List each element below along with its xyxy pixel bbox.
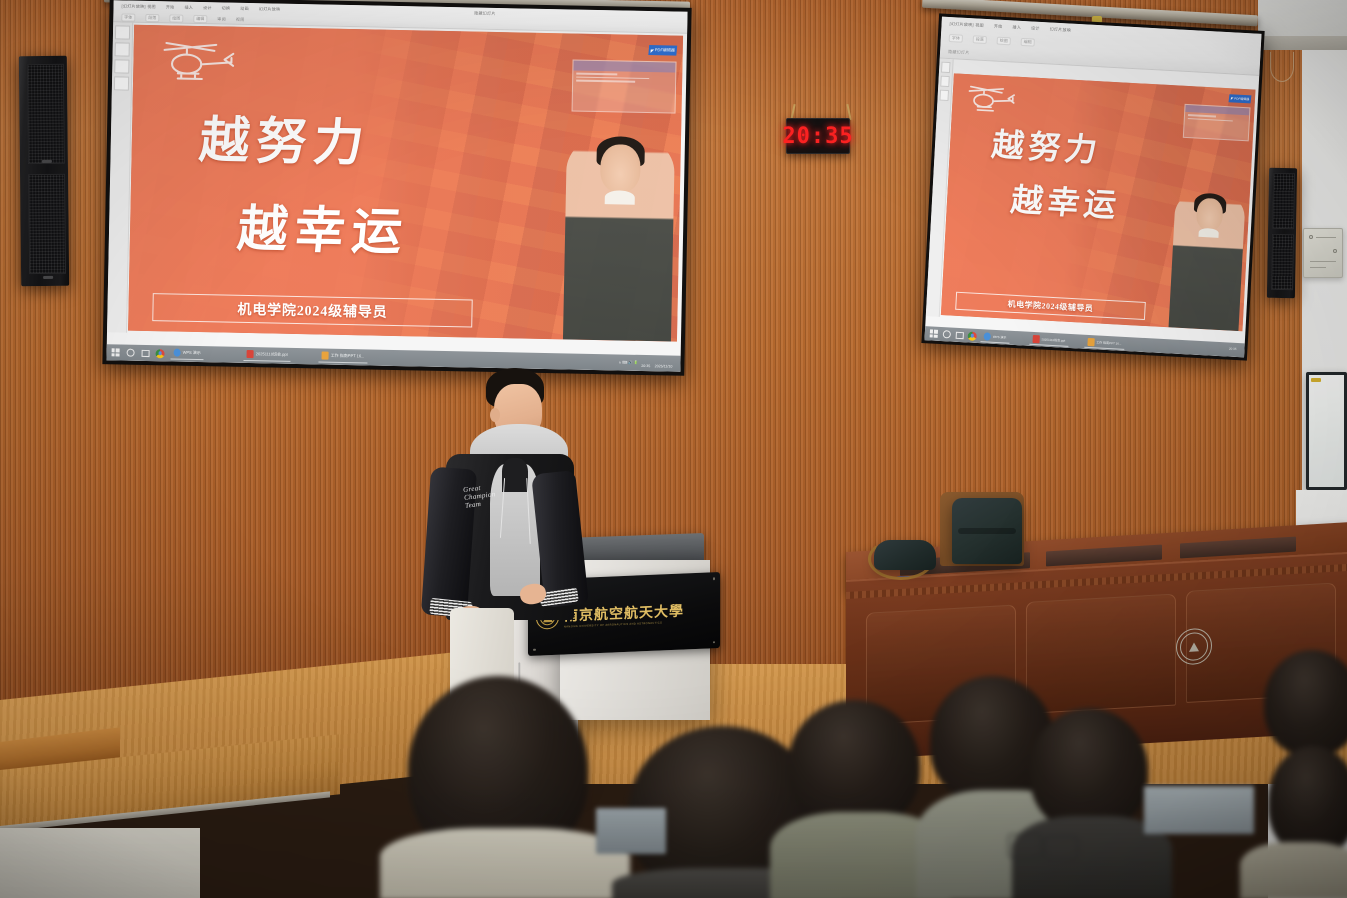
- audience-head: [788, 700, 920, 830]
- audience-head: [1264, 650, 1347, 756]
- audience-head: [1268, 746, 1347, 856]
- lecture-hall-photo: [幻灯片放映] 视图 开始 插入 设计 切换 动画 幻灯片放映 隐藏幻灯片 字体…: [0, 0, 1347, 898]
- audience-head: [1030, 708, 1148, 832]
- audience-eyeglasses: [1008, 834, 1042, 858]
- auditorium-seat-back: [596, 808, 666, 854]
- auditorium-seat-back: [1144, 786, 1254, 834]
- seated-audience: [0, 0, 1347, 898]
- audience-shoulders: [1240, 842, 1347, 898]
- audience-shoulders: [380, 828, 630, 898]
- audience-eyeglasses: [1044, 836, 1078, 860]
